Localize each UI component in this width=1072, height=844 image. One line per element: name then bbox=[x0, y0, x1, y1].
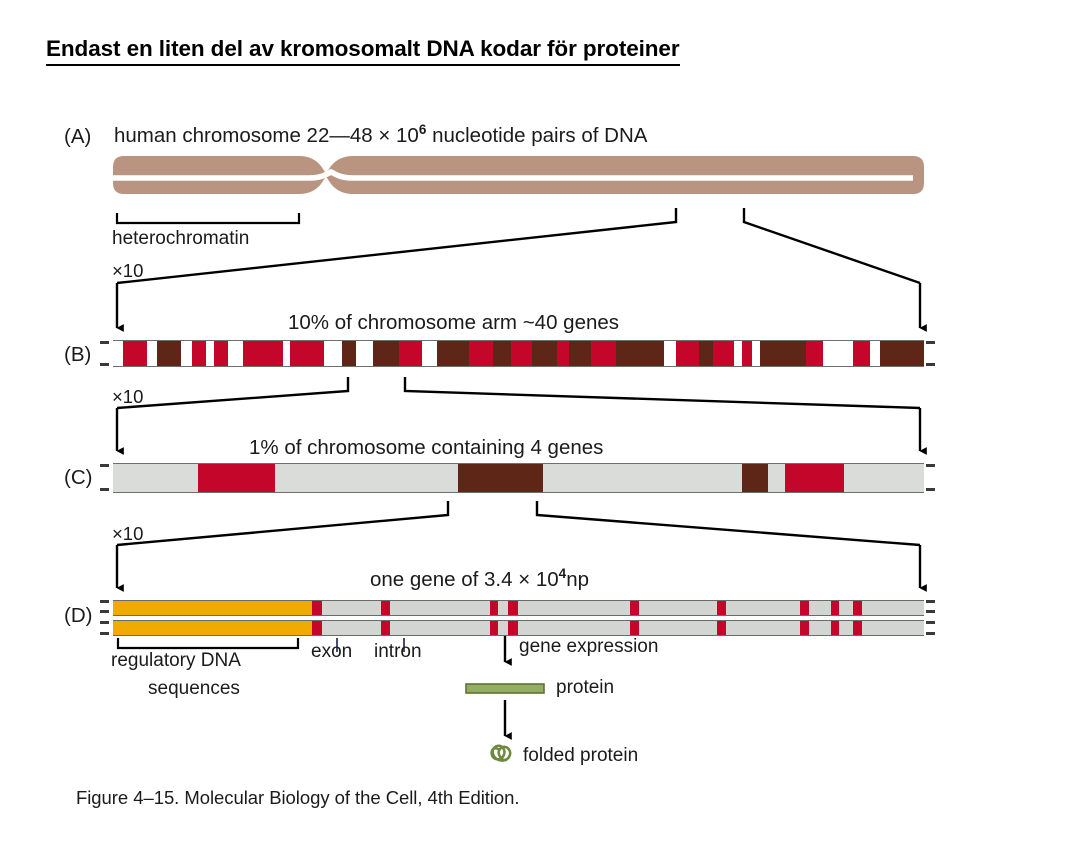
chromosome-band bbox=[324, 341, 342, 366]
dna-segment bbox=[853, 621, 862, 635]
heterochromatin-bracket bbox=[117, 213, 299, 223]
dna-segment bbox=[630, 601, 640, 615]
slide-canvas: Endast en liten del av kromosomalt DNA k… bbox=[0, 0, 1072, 844]
panel-a-heading: human chromosome 22—48 × 106 nucleotide … bbox=[114, 126, 647, 147]
chromosome-band bbox=[422, 341, 437, 366]
heterochromatin-label: heterochromatin bbox=[112, 229, 249, 248]
chromosome-band bbox=[113, 341, 123, 366]
chromosome-graphic bbox=[113, 156, 924, 194]
strip-d-edge-dash-right-top bbox=[926, 600, 935, 603]
chromosome-band bbox=[676, 341, 699, 366]
panel-b-heading: 10% of chromosome arm ~40 genes bbox=[288, 313, 619, 334]
dna-segment bbox=[508, 601, 518, 615]
chromosome-region-gene-strip bbox=[113, 463, 924, 493]
strip-d-edge-dash-right-bottom bbox=[926, 632, 935, 635]
intron-label: intron bbox=[374, 642, 422, 661]
panel-letter-d: (D) bbox=[64, 606, 92, 627]
strip-d-edge-dash-right-lower bbox=[926, 621, 935, 624]
chromosome-band bbox=[713, 341, 734, 366]
chromosome-band bbox=[493, 341, 511, 366]
panel-letter-b: (B) bbox=[64, 345, 91, 366]
dna-strand-bottom bbox=[113, 620, 924, 636]
chromosome-band bbox=[181, 341, 192, 366]
strip-b-edge-dash-right-bottom bbox=[926, 363, 935, 366]
chromosome-band bbox=[356, 341, 372, 366]
regulatory-dna-label-line2: sequences bbox=[148, 679, 240, 698]
panel-d-heading: one gene of 3.4 × 104np bbox=[370, 570, 589, 591]
chromosome-band bbox=[806, 341, 824, 366]
chromosome-arm-band-strip bbox=[113, 340, 924, 367]
regulatory-dna-bracket bbox=[118, 638, 298, 648]
figure-caption: Figure 4–15. Molecular Biology of the Ce… bbox=[76, 789, 520, 808]
strip-c-edge-dash-left-bottom bbox=[100, 488, 109, 491]
magnification-label-d: ×10 bbox=[112, 525, 143, 544]
chromosome-band bbox=[283, 341, 289, 366]
protein-bar bbox=[466, 684, 544, 693]
figure-chromosome-zoom: (A) human chromosome 22—48 × 106 nucleot… bbox=[0, 0, 1072, 844]
dna-segment bbox=[113, 601, 312, 615]
chromosome-band bbox=[853, 341, 871, 366]
panel-letter-c: (C) bbox=[64, 468, 92, 489]
panel-a-heading-pre: human chromosome 22—48 bbox=[114, 124, 378, 147]
chromosome-band bbox=[469, 341, 493, 366]
chromosome-band bbox=[147, 341, 157, 366]
chromosome-band bbox=[569, 341, 592, 366]
chromosome-band bbox=[206, 341, 213, 366]
gene-block bbox=[198, 464, 275, 492]
dna-segment bbox=[490, 621, 498, 635]
chromosome-band bbox=[192, 341, 207, 366]
chromosome-band bbox=[399, 341, 422, 366]
chromosome-band bbox=[591, 341, 615, 366]
dna-segment bbox=[831, 621, 839, 635]
strip-d-edge-dash-left-lower bbox=[100, 621, 109, 624]
gene-block bbox=[742, 464, 769, 492]
chromosome-band bbox=[123, 341, 147, 366]
dna-segment bbox=[630, 621, 640, 635]
strip-d-edge-dash-left-bottom bbox=[100, 632, 109, 635]
dna-segment bbox=[800, 621, 809, 635]
chromosome-band bbox=[823, 341, 852, 366]
chromosome-band bbox=[157, 341, 181, 366]
chromosome-band bbox=[342, 341, 357, 366]
strip-c-edge-dash-left-top bbox=[100, 464, 109, 467]
magnification-label-c: ×10 bbox=[112, 388, 143, 407]
chromosome-band bbox=[290, 341, 324, 366]
chromosome-band bbox=[699, 341, 714, 366]
chromosome-band bbox=[557, 341, 569, 366]
panel-d-heading-pre: one gene of 3.4 bbox=[370, 568, 518, 591]
strip-d-edge-dash-left-top bbox=[100, 600, 109, 603]
panel-d-heading-post: np bbox=[566, 568, 589, 591]
panel-a-heading-mul: × 10 bbox=[378, 124, 418, 147]
chromosome-band bbox=[742, 341, 753, 366]
chromosome-band bbox=[511, 341, 532, 366]
chromosome-band bbox=[228, 341, 243, 366]
regulatory-dna-label-line1: regulatory DNA bbox=[111, 651, 241, 670]
chromosome-band bbox=[760, 341, 805, 366]
strip-c-edge-dash-right-top bbox=[926, 464, 935, 467]
dna-segment bbox=[717, 601, 726, 615]
magnification-label-b: ×10 bbox=[112, 262, 143, 281]
strip-d-edge-dash-left-mid bbox=[100, 610, 109, 613]
chromosome-band bbox=[870, 341, 880, 366]
strip-b-edge-dash-left-top bbox=[100, 341, 109, 344]
dna-strand-top bbox=[113, 600, 924, 616]
strip-b-edge-dash-right-top bbox=[926, 341, 935, 344]
chromosome-band bbox=[734, 341, 741, 366]
gene-block bbox=[785, 464, 844, 492]
dna-segment bbox=[831, 601, 839, 615]
protein-label: protein bbox=[556, 678, 614, 697]
dna-segment bbox=[381, 601, 390, 615]
chromosome-band bbox=[752, 341, 760, 366]
folded-protein-label: folded protein bbox=[523, 746, 638, 765]
chromosome-band bbox=[437, 341, 469, 366]
panel-letter-a: (A) bbox=[64, 127, 91, 148]
dna-segment bbox=[381, 621, 390, 635]
dna-segment bbox=[853, 601, 862, 615]
strip-b-edge-dash-left-bottom bbox=[100, 363, 109, 366]
chromosome-band bbox=[616, 341, 665, 366]
panel-d-heading-mul: × 10 bbox=[518, 568, 558, 591]
chromosome-band bbox=[214, 341, 229, 366]
chromosome-band bbox=[532, 341, 556, 366]
strip-d-edge-dash-right-mid bbox=[926, 610, 935, 613]
chromosome-band bbox=[880, 341, 924, 366]
dna-segment bbox=[800, 601, 809, 615]
dna-segment bbox=[508, 621, 518, 635]
gene-expression-label: gene expression bbox=[519, 637, 658, 656]
chromosome-band bbox=[373, 341, 400, 366]
gene-block bbox=[458, 464, 543, 492]
exon-label: exon bbox=[311, 642, 352, 661]
dna-segment bbox=[312, 601, 323, 615]
dna-segment bbox=[312, 621, 323, 635]
chromosome-band bbox=[243, 341, 284, 366]
dna-segment bbox=[717, 621, 726, 635]
folded-protein-icon bbox=[492, 746, 511, 761]
chromosome-band bbox=[664, 341, 675, 366]
dna-segment bbox=[490, 601, 498, 615]
panel-a-heading-post: nucleotide pairs of DNA bbox=[426, 124, 647, 147]
strip-c-edge-dash-right-bottom bbox=[926, 488, 935, 491]
panel-c-heading: 1% of chromosome containing 4 genes bbox=[249, 438, 603, 459]
connector-a-to-b bbox=[117, 208, 920, 328]
dna-segment bbox=[113, 621, 312, 635]
